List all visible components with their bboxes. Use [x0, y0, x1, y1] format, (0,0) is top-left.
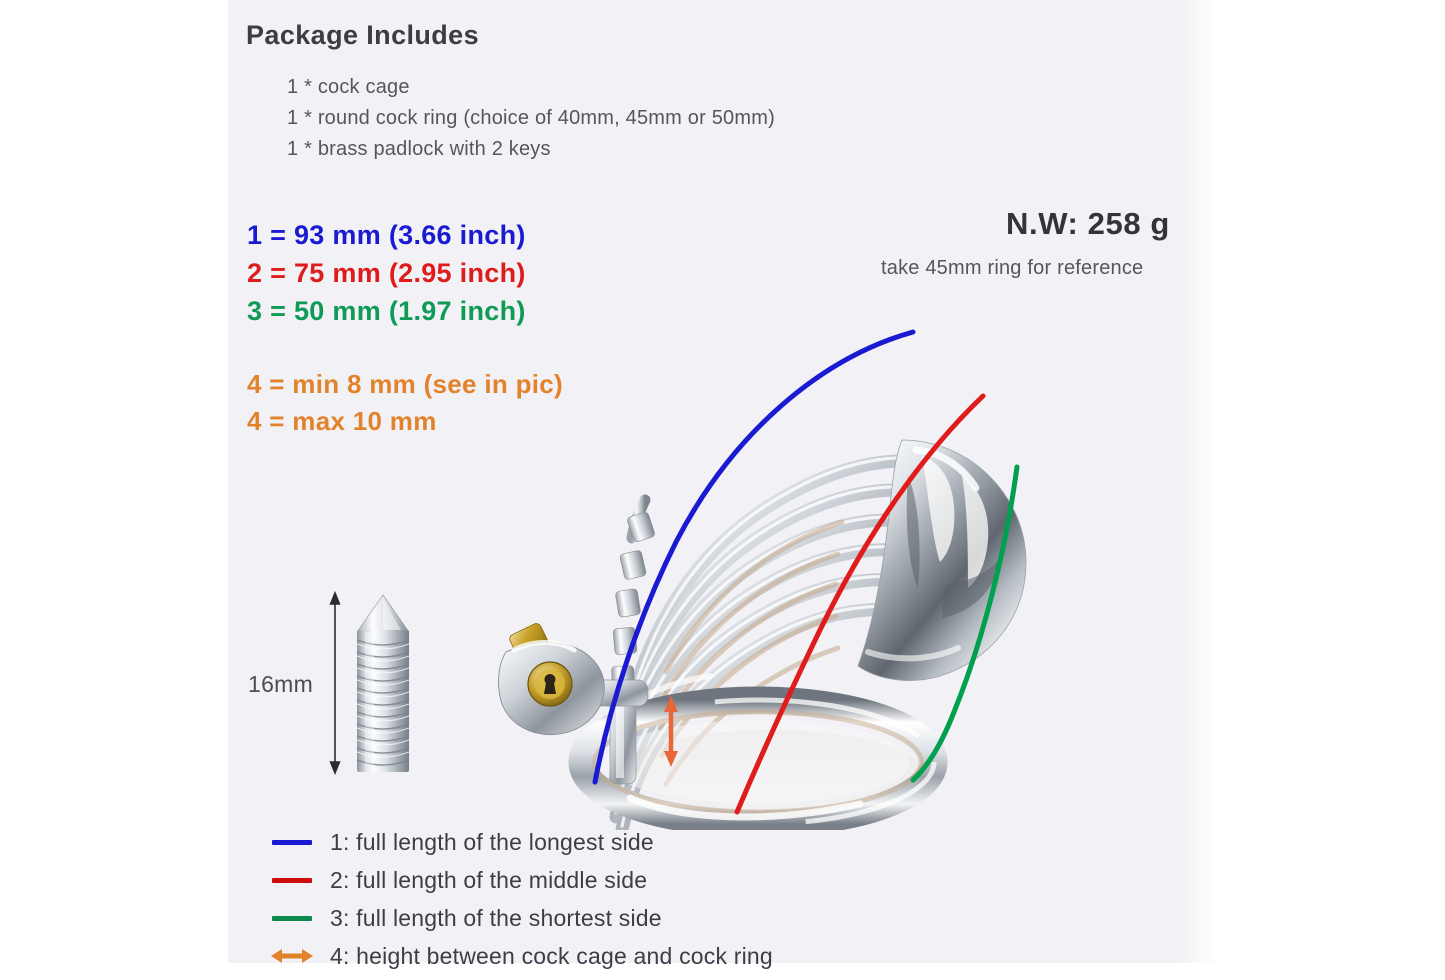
screw-illustration: [325, 588, 435, 778]
legend-double-arrow-orange-icon: [268, 937, 316, 975]
legend-line-green-icon: [268, 899, 316, 937]
legend-row-3: 3: full length of the shortest side: [268, 899, 773, 937]
legend-label-2: 2: full length of the middle side: [316, 867, 647, 894]
infographic-canvas: Package Includes 1 * cock cage 1 * round…: [0, 0, 1445, 963]
panel-right-fade: [1180, 0, 1220, 963]
screw-svg: [325, 588, 435, 778]
dimension-value-1: 1 = 93 mm (3.66 inch): [247, 216, 526, 254]
legend-line-blue-icon: [268, 823, 316, 861]
legend-label-3: 3: full length of the shortest side: [316, 905, 662, 932]
legend: 1: full length of the longest side 2: fu…: [268, 823, 773, 975]
legend-line-red-icon: [268, 861, 316, 899]
net-weight-note: take 45mm ring for reference: [881, 257, 1143, 280]
legend-label-4: 4: height between cock cage and cock rin…: [316, 943, 773, 970]
screw-length-label: 16mm: [248, 671, 313, 698]
dimension-value-2: 2 = 75 mm (2.95 inch): [247, 254, 526, 292]
legend-row-1: 1: full length of the longest side: [268, 823, 773, 861]
product-svg: [470, 300, 1090, 830]
package-includes-title: Package Includes: [246, 20, 479, 51]
double-arrow-svg: [268, 937, 316, 975]
brass-padlock: [499, 622, 605, 735]
screw-dimension-arrow: [331, 593, 340, 773]
package-item: 1 * cock cage: [287, 72, 775, 103]
legend-label-1: 1: full length of the longest side: [316, 829, 654, 856]
package-item: 1 * brass padlock with 2 keys: [287, 134, 775, 165]
legend-row-2: 2: full length of the middle side: [268, 861, 773, 899]
package-includes-list: 1 * cock cage 1 * round cock ring (choic…: [247, 72, 775, 165]
legend-row-4: 4: height between cock cage and cock rin…: [268, 937, 773, 975]
net-weight-label: N.W: 258 g: [1006, 206, 1170, 242]
chastity-cage-product-photo: [470, 300, 1090, 830]
package-item: 1 * round cock ring (choice of 40mm, 45m…: [287, 103, 775, 134]
